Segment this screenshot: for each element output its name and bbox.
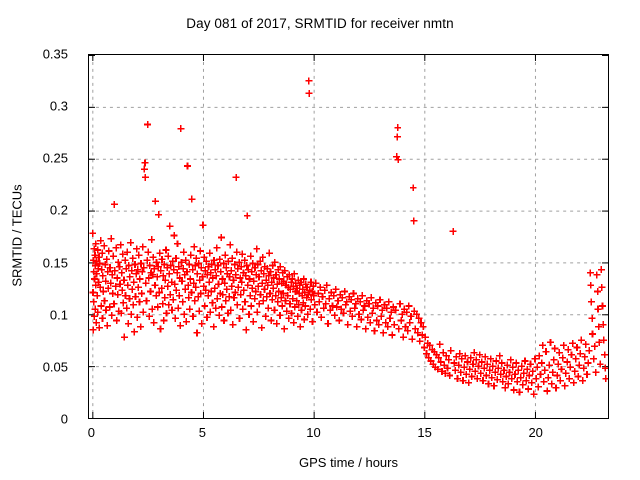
y-tick-label: 0.3	[50, 99, 68, 114]
y-tick-label: 0	[61, 412, 68, 427]
y-tick-label: 0.05	[43, 359, 68, 374]
x-tick-label: 10	[306, 425, 320, 440]
x-tick-label: 20	[528, 425, 542, 440]
chart-title: Day 081 of 2017, SRMTID for receiver nmt…	[0, 16, 640, 31]
y-tick-label: 0.25	[43, 151, 68, 166]
x-tick-label: 15	[417, 425, 431, 440]
x-tick-label: 0	[88, 425, 95, 440]
scatter-points	[89, 55, 608, 418]
chart-screenshot: Day 081 of 2017, SRMTID for receiver nmt…	[0, 0, 640, 480]
y-tick-label: 0.2	[50, 203, 68, 218]
x-tick-label: 5	[199, 425, 206, 440]
y-axis-label: SRMTID / TECUs	[10, 136, 25, 336]
x-axis-label: GPS time / hours	[88, 455, 609, 470]
plot-area	[88, 54, 609, 419]
y-tick-label: 0.35	[43, 47, 68, 62]
x-axis-tick-labels: 05101520	[88, 425, 609, 445]
y-tick-label: 0.15	[43, 255, 68, 270]
y-tick-label: 0.1	[50, 307, 68, 322]
